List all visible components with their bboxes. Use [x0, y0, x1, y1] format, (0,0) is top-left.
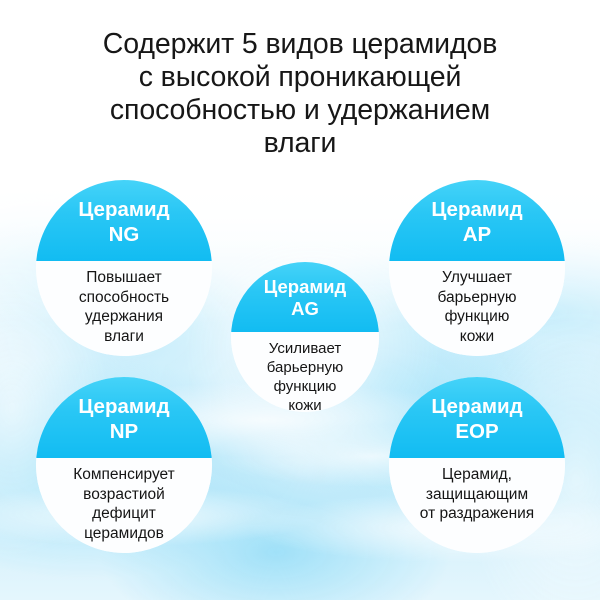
ceramide-card-np: Церамид NP Компенсирует возрастиой дефиц…	[36, 377, 212, 553]
ceramide-name-line1: Церамид	[431, 197, 522, 222]
ceramide-name-line1: Церамид	[264, 276, 346, 299]
ceramide-name-line1: Церамид	[78, 197, 169, 222]
ceramide-name-ag: Церамид AG	[231, 262, 379, 332]
ceramide-code: EOP	[455, 419, 498, 444]
ceramide-card-eop: Церамид EOP Церамид, защищающим от раздр…	[389, 377, 565, 553]
ceramide-name-ng: Церамид NG	[36, 180, 212, 261]
ceramide-description-eop: Церамид, защищающим от раздражения	[389, 458, 565, 553]
infographic-canvas: Содержит 5 видов церамидов с высокой про…	[0, 0, 600, 600]
ceramide-name-line1: Церамид	[431, 394, 522, 419]
ceramide-code: AG	[291, 298, 319, 321]
page-title: Содержит 5 видов церамидов с высокой про…	[0, 28, 600, 160]
ceramide-code: NP	[110, 419, 138, 444]
ceramide-description-ng: Повышает способность удержания влаги	[36, 261, 212, 356]
ceramide-description-ag: Усиливает барьерную функцию кожи	[231, 332, 379, 412]
ceramide-card-ag: Церамид AG Усиливает барьерную функцию к…	[231, 262, 379, 412]
ceramide-description-ap: Улучшает барьерную функцию кожи	[389, 261, 565, 356]
ceramide-card-ap: Церамид AP Улучшает барьерную функцию ко…	[389, 180, 565, 356]
ceramide-name-eop: Церамид EOP	[389, 377, 565, 458]
ceramide-code: NG	[109, 222, 140, 247]
ceramide-code: AP	[463, 222, 491, 247]
ceramide-description-np: Компенсирует возрастиой дефицит церамидо…	[36, 458, 212, 553]
ceramide-name-line1: Церамид	[78, 394, 169, 419]
ceramide-card-ng: Церамид NG Повышает способность удержани…	[36, 180, 212, 356]
ceramide-name-ap: Церамид AP	[389, 180, 565, 261]
ceramide-name-np: Церамид NP	[36, 377, 212, 458]
